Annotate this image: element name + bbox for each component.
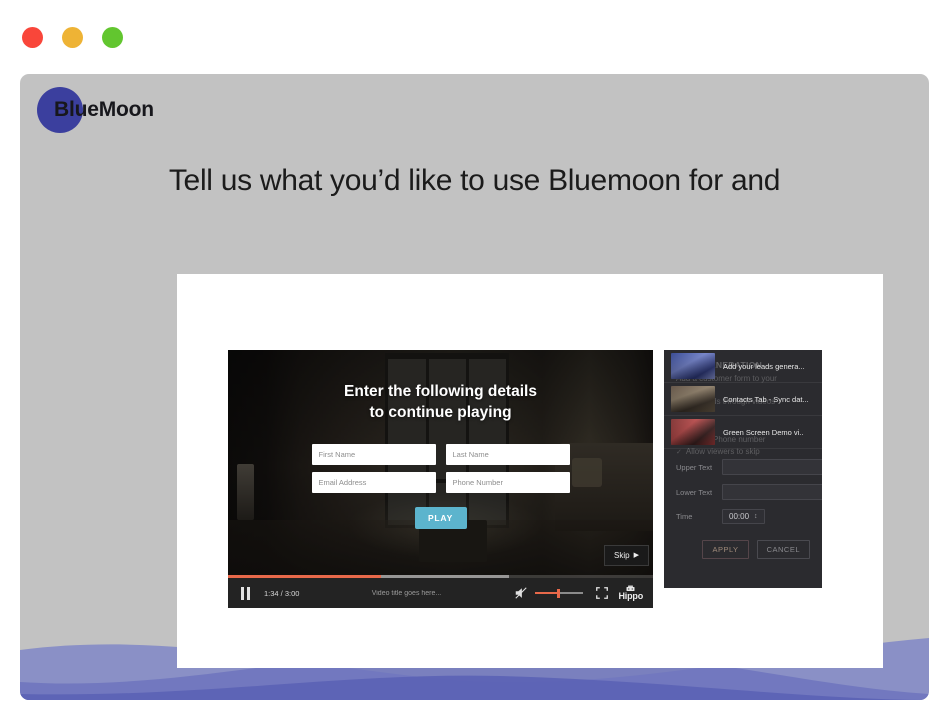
video-item-label: Add your leads genera... [723,362,805,371]
phone-number-input[interactable] [446,472,570,493]
page-title: Tell us what you’d like to use Bluemoon … [20,164,929,198]
time-display: 1:34 / 3:00 [264,589,299,598]
time-stepper[interactable]: 00:00 ↕ [722,509,765,524]
upper-text-input[interactable] [722,459,822,475]
gate-title-line1: Enter the following details [344,382,537,403]
page-canvas: BlueMoon Tell us what you’d like to use … [20,74,929,700]
video-thumbnail [671,419,715,445]
video-item-label: Contacts Tab - Sync dat... [723,395,809,404]
first-name-input[interactable] [312,444,436,465]
lower-text-input[interactable] [722,484,822,500]
brand-logo[interactable]: BlueMoon [37,87,154,133]
lower-text-label: Lower Text [676,488,722,497]
player-brand-logo[interactable]: Hippo [619,585,644,601]
gate-form-fields [312,444,570,493]
maximize-window-button[interactable] [102,27,123,48]
upper-text-label: Upper Text [676,463,722,472]
video-thumbnail [671,386,715,412]
gate-title-line2: to continue playing [344,403,537,424]
time-value: 00:00 [729,512,749,521]
browser-window: BlueMoon Tell us what you’d like to use … [0,0,949,717]
traffic-lights [22,27,123,48]
cancel-button[interactable]: CANCEL [757,540,810,559]
volume-fill [535,592,558,594]
video-player[interactable]: Enter the following details to continue … [228,350,653,608]
skip-button[interactable]: Skip ▶ [604,545,649,566]
video-title: Video title goes here... [299,590,513,597]
time-label: Time [676,512,722,521]
lead-capture-gate: Enter the following details to continue … [228,350,653,608]
apply-button[interactable]: APPLY [702,540,748,559]
overlay-text-form: Upper Text Lower Text Time 00:00 ↕ [664,449,822,567]
minimize-window-button[interactable] [62,27,83,48]
close-window-button[interactable] [22,27,43,48]
brand-name: BlueMoon [54,98,154,122]
time-row: Time 00:00 ↕ [676,509,810,524]
gate-title: Enter the following details to continue … [344,382,537,423]
video-thumbnail [671,353,715,379]
skip-label: Skip [614,551,630,560]
lower-text-row: Lower Text [676,484,810,500]
fullscreen-icon[interactable] [595,586,609,600]
panel-front-layer: Add your leads genera... Contacts Tab - … [664,350,822,588]
panel-action-buttons: APPLY CANCEL [676,540,810,559]
video-settings-panel: LEAD GENERATION Add a customer form to y… [664,350,822,588]
video-control-bar: 1:34 / 3:00 Video title goes here... [228,578,653,608]
mute-icon[interactable] [514,586,528,600]
stepper-arrows-icon: ↕ [754,513,758,520]
email-address-input[interactable] [312,472,436,493]
play-arrow-icon: ▶ [634,552,639,559]
pause-icon[interactable] [237,586,253,600]
list-item[interactable]: Add your leads genera... [664,350,822,383]
play-button[interactable]: PLAY [415,507,467,529]
fullscreen-icon-svg [595,586,609,600]
player-brand-text: Hippo [619,591,644,601]
volume-knob[interactable] [557,589,560,598]
onboarding-modal: Enter the following details to continue … [177,274,883,668]
window-titlebar [0,0,949,74]
last-name-input[interactable] [446,444,570,465]
upper-text-row: Upper Text [676,459,810,475]
mute-icon-svg [514,586,528,600]
volume-slider[interactable] [535,587,583,599]
list-item[interactable]: Contacts Tab - Sync dat... [664,383,822,416]
list-item[interactable]: Green Screen Demo vi.. [664,416,822,449]
video-item-label: Green Screen Demo vi.. [723,428,803,437]
